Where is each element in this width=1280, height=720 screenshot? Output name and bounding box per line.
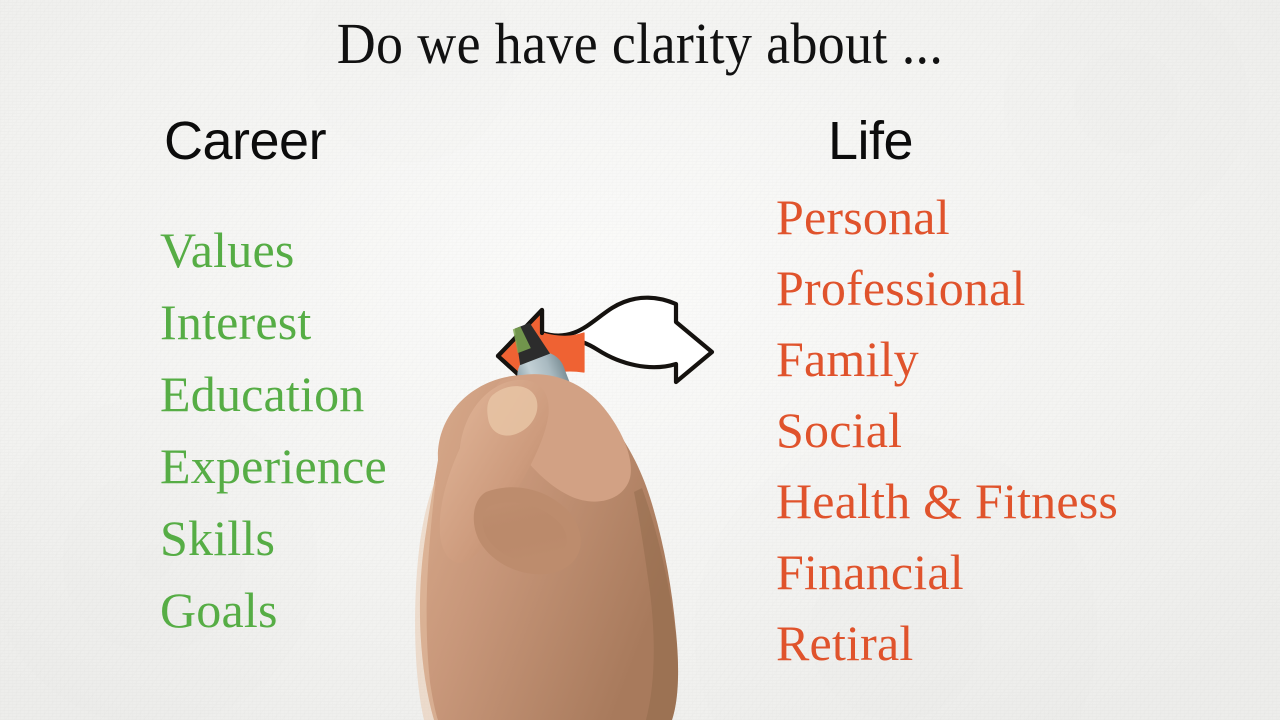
list-item: Retiral <box>776 608 1118 679</box>
life-item-list: Personal Professional Family Social Heal… <box>776 182 1118 679</box>
list-item: Personal <box>776 182 1118 253</box>
list-item: Financial <box>776 537 1118 608</box>
career-item-list: Values Interest Education Experience Ski… <box>160 214 387 646</box>
list-item: Health & Fitness <box>776 466 1118 537</box>
page-title: Do we have clarity about ... <box>45 14 1235 75</box>
life-column-heading: Life <box>828 114 913 168</box>
list-item: Education <box>160 358 387 430</box>
list-item: Professional <box>776 253 1118 324</box>
whiteboard-slide: Do we have clarity about ... Career Valu… <box>0 0 1280 720</box>
hand-holding-marker-icon <box>390 320 820 720</box>
list-item: Values <box>160 214 387 286</box>
list-item: Social <box>776 395 1118 466</box>
list-item: Family <box>776 324 1118 395</box>
list-item: Interest <box>160 286 387 358</box>
list-item: Goals <box>160 574 387 646</box>
career-column-heading: Career <box>164 114 326 168</box>
list-item: Skills <box>160 502 387 574</box>
list-item: Experience <box>160 430 387 502</box>
